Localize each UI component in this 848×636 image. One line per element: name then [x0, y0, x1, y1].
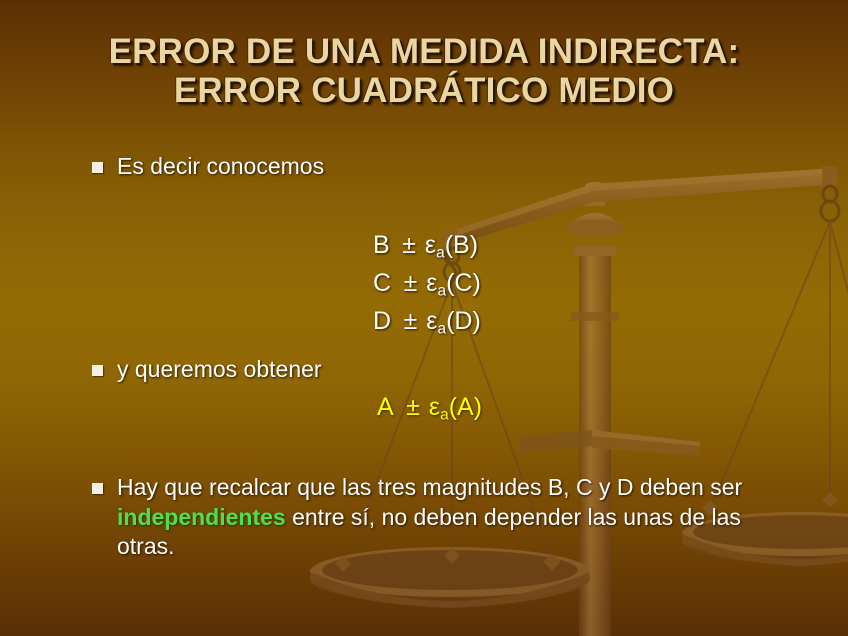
highlight-independientes: independientes — [117, 504, 286, 530]
formula-a: A±εa(A) — [377, 393, 482, 424]
formula-c-subscript: a — [437, 282, 446, 299]
paragraph-part-1: Hay que recalcar que las tres magnitudes… — [117, 474, 742, 500]
formula-a-variable: A — [377, 393, 394, 421]
formula-a-operator: ± — [406, 393, 420, 421]
slide-body: Es decir conocemos y queremos obtener Ha… — [0, 0, 848, 636]
bullet-item-3: Hay que recalcar que las tres magnitudes… — [92, 473, 792, 562]
formula-c-argument: (C) — [446, 269, 481, 297]
formula-b-operator: ± — [402, 231, 416, 259]
bullet-item-2: y queremos obtener — [92, 355, 322, 384]
formula-b-epsilon: ε — [425, 231, 436, 259]
formula-b-subscript: a — [436, 244, 445, 261]
formula-d: D±εa(D) — [373, 307, 481, 338]
formula-b-variable: B — [373, 231, 390, 259]
formula-a-epsilon: ε — [429, 393, 440, 421]
formula-b: B±εa(B) — [373, 231, 478, 262]
square-bullet-icon — [92, 365, 103, 376]
bullet-text-2: y queremos obtener — [117, 355, 322, 384]
formula-d-subscript: a — [437, 320, 446, 337]
bullet-item-1: Es decir conocemos — [92, 152, 324, 181]
formula-a-argument: (A) — [449, 393, 482, 421]
formula-d-argument: (D) — [446, 307, 481, 335]
formula-d-variable: D — [373, 307, 392, 335]
paragraph-independence: Hay que recalcar que las tres magnitudes… — [117, 473, 792, 562]
square-bullet-icon — [92, 483, 103, 494]
formula-c-epsilon: ε — [426, 269, 437, 297]
formula-c: C±εa(C) — [373, 269, 481, 300]
formula-d-epsilon: ε — [426, 307, 437, 335]
formula-c-operator: ± — [404, 269, 418, 297]
formula-a-subscript: a — [440, 406, 449, 423]
presentation-slide: ERROR DE UNA MEDIDA INDIRECTA: ERROR CUA… — [0, 0, 848, 636]
square-bullet-icon — [92, 162, 103, 173]
formula-d-operator: ± — [404, 307, 418, 335]
bullet-text-1: Es decir conocemos — [117, 152, 324, 181]
formula-b-argument: (B) — [445, 231, 478, 259]
formula-c-variable: C — [373, 269, 392, 297]
